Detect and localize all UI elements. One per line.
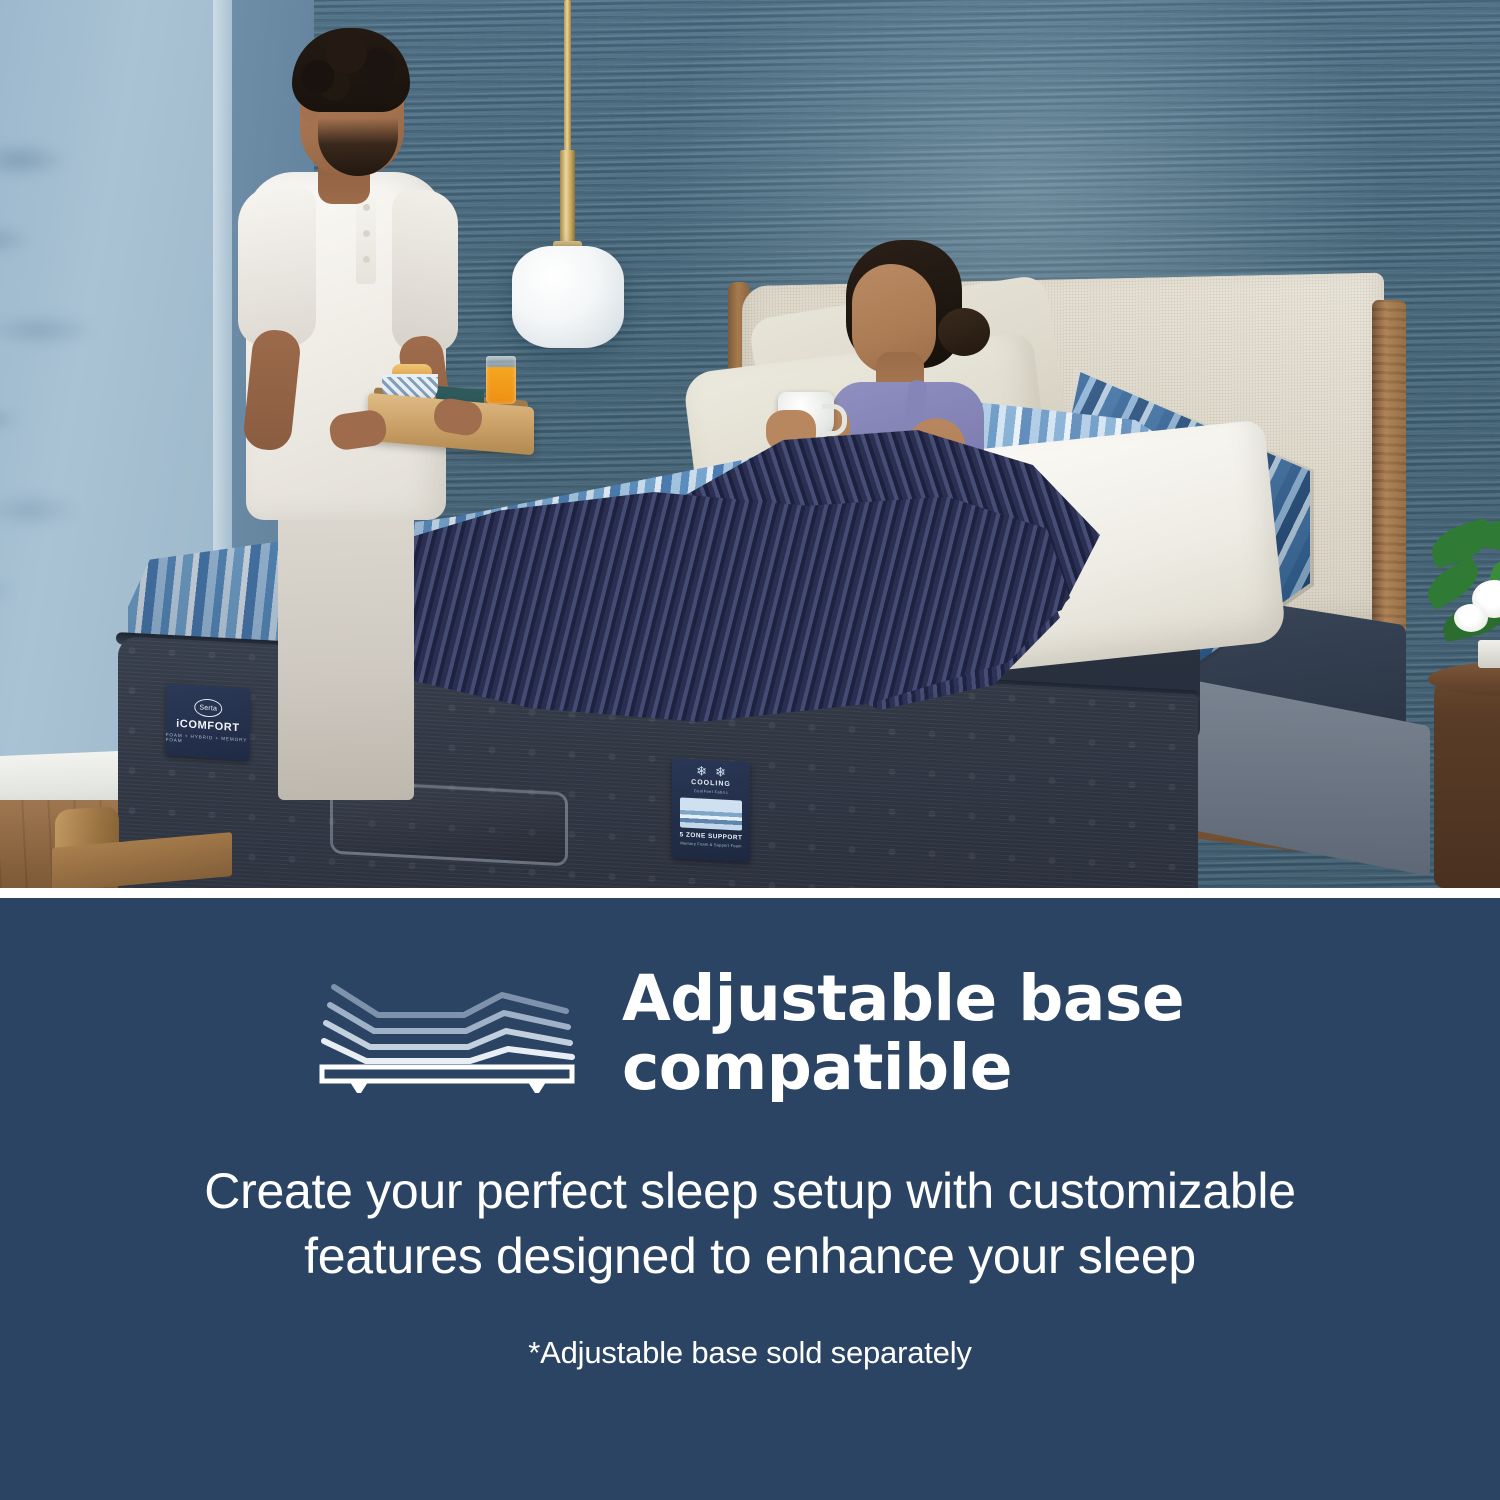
snowflake-icon-row: ❄ ❄ bbox=[696, 764, 726, 779]
nightstand-book bbox=[1478, 640, 1500, 668]
woman-hair-bun bbox=[938, 308, 990, 356]
snowflake-icon-2: ❄ bbox=[715, 765, 726, 779]
promo-subheadline: Create your perfect sleep setup with cus… bbox=[190, 1159, 1310, 1289]
icomfort-label-name: iCOMFORT bbox=[176, 718, 240, 734]
cooling-title: COOLING bbox=[691, 779, 731, 788]
promo-page: Serta iCOMFORT FOAM + HYBRID + MEMORY FO… bbox=[0, 0, 1500, 1500]
headline-row: Adjustable base compatible bbox=[0, 964, 1500, 1103]
pendant-lamp-sleeve bbox=[560, 150, 575, 250]
man-shirt-button-1 bbox=[363, 204, 370, 211]
icomfort-label-subtitle: FOAM + HYBRID + MEMORY FOAM bbox=[166, 732, 250, 748]
lifestyle-photo: Serta iCOMFORT FOAM + HYBRID + MEMORY FO… bbox=[0, 0, 1500, 888]
orange-juice-glass bbox=[486, 356, 516, 404]
adjustable-base-icon bbox=[316, 973, 580, 1093]
pendant-lamp-shade bbox=[512, 246, 624, 348]
cooling-feature-label: ❄ ❄ COOLING CoolFeel Fabric 5 ZONE SUPPO… bbox=[672, 758, 750, 862]
man-sleeve-right bbox=[392, 190, 458, 352]
serta-logo-icon: Serta bbox=[194, 698, 222, 718]
cooling-subtitle: CoolFeel Fabric bbox=[694, 788, 728, 795]
snowflake-icon: ❄ bbox=[696, 764, 707, 778]
man-pants bbox=[278, 500, 414, 800]
promo-headline-line-1: Adjustable base bbox=[622, 964, 1184, 1033]
man-shirt-button-2 bbox=[363, 230, 370, 237]
photo-panel-divider bbox=[0, 888, 1500, 898]
promo-headline: Adjustable base compatible bbox=[622, 964, 1184, 1103]
serta-icomfort-label: Serta iCOMFORT FOAM + HYBRID + MEMORY FO… bbox=[165, 683, 250, 761]
promo-footnote: *Adjustable base sold separately bbox=[528, 1335, 971, 1371]
man-shirt-button-3 bbox=[363, 256, 370, 263]
promo-headline-line-2: compatible bbox=[622, 1033, 1184, 1102]
man-sleeve-left bbox=[238, 186, 316, 346]
nightstand bbox=[1434, 668, 1500, 888]
promo-panel: Adjustable base compatible Create your p… bbox=[0, 898, 1500, 1500]
zone-support-subtitle: Memory Foam & Support Foam bbox=[680, 840, 741, 848]
zone-diagram-icon bbox=[680, 797, 742, 830]
